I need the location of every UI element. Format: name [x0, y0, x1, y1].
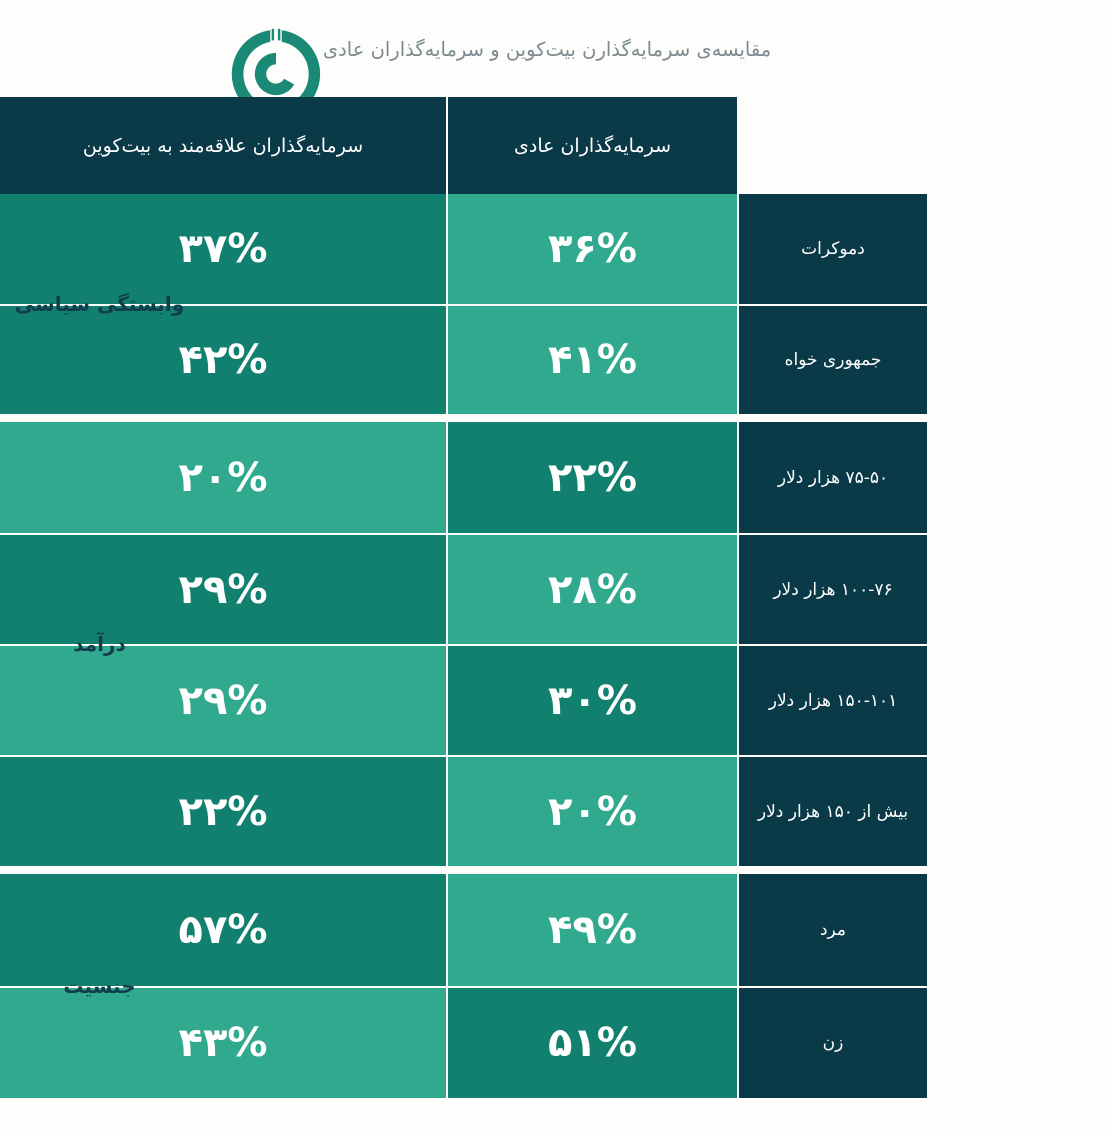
row-spacer: [927, 644, 1112, 755]
value-ordinary: ۴۹%: [446, 874, 737, 986]
row-spacer: [927, 422, 1112, 533]
table-row: جمهوری خواه ۴۱% ۴۲%: [0, 304, 1112, 414]
row-label: ۱۵۰-۱۰۱ هزار دلار: [737, 644, 927, 755]
value-ordinary: ۳۶%: [446, 194, 737, 304]
row-label: مرد: [737, 874, 927, 986]
value-bitcoin: ۲۰%: [0, 422, 446, 533]
row-label: جمهوری خواه: [737, 304, 927, 414]
table-row: زن ۵۱% ۴۳%: [0, 986, 1112, 1098]
value-bitcoin: ۳۷%: [0, 194, 446, 304]
table-row: ۷۵-۵۰ هزار دلار ۲۲% ۲۰%: [0, 422, 1112, 533]
table-header-row: سرمایه‌گذاران عادی سرمایه‌گذاران علاقه‌م…: [0, 97, 1112, 194]
column-header-bitcoin: سرمایه‌گذاران علاقه‌مند به بیت‌کوین: [0, 97, 446, 194]
comparison-table: سرمایه‌گذاران عادی سرمایه‌گذاران علاقه‌م…: [0, 97, 1112, 1098]
row-label: زن: [737, 986, 927, 1098]
value-ordinary: ۲۰%: [446, 755, 737, 866]
section-gender: جنسیت مرد ۴۹% ۵۷% زن ۵۱% ۴۳%: [0, 874, 1112, 1098]
row-spacer: [927, 533, 1112, 644]
value-bitcoin: ۴۳%: [0, 986, 446, 1098]
row-label: دموکرات: [737, 194, 927, 304]
row-label: ۷۵-۵۰ هزار دلار: [737, 422, 927, 533]
value-ordinary: ۲۲%: [446, 422, 737, 533]
section-political-affiliation: وابستگی سیاسی دموکرات ۳۶% ۳۷% جمهوری خوا…: [0, 194, 1112, 414]
table-row: مرد ۴۹% ۵۷%: [0, 874, 1112, 986]
value-ordinary: ۲۸%: [446, 533, 737, 644]
value-ordinary: ۴۱%: [446, 304, 737, 414]
page-title: مقایسه‌ی سرمایه‌گذارن بیت‌کوین و سرمایه‌…: [102, 38, 992, 61]
header-label-blank: [737, 97, 927, 194]
table-row: ۱۰۰-۷۶ هزار دلار ۲۸% ۲۹%: [0, 533, 1112, 644]
row-spacer: [927, 755, 1112, 866]
section-divider: [0, 414, 1112, 422]
column-header-ordinary: سرمایه‌گذاران عادی: [446, 97, 737, 194]
value-bitcoin: ۲۹%: [0, 644, 446, 755]
value-ordinary: ۵۱%: [446, 986, 737, 1098]
section-title-income: درآمد: [12, 632, 187, 656]
value-bitcoin: ۴۲%: [0, 304, 446, 414]
row-label: ۱۰۰-۷۶ هزار دلار: [737, 533, 927, 644]
value-ordinary: ۳۰%: [446, 644, 737, 755]
table-row: بیش از ۱۵۰ هزار دلار ۲۰% ۲۲%: [0, 755, 1112, 866]
table-row: ۱۵۰-۱۰۱ هزار دلار ۳۰% ۲۹%: [0, 644, 1112, 755]
row-spacer: [927, 986, 1112, 1098]
row-spacer: [927, 304, 1112, 414]
header-area: کوینیت Coinit.ir مقایسه‌ی سرمایه‌گذارن ب…: [0, 0, 1112, 97]
section-divider: [0, 866, 1112, 874]
value-bitcoin: ۲۲%: [0, 755, 446, 866]
section-title-political: وابستگی سیاسی: [12, 292, 187, 316]
row-label: بیش از ۱۵۰ هزار دلار: [737, 755, 927, 866]
header-spacer: [927, 97, 1112, 194]
row-spacer: [927, 194, 1112, 304]
table-row: دموکرات ۳۶% ۳۷%: [0, 194, 1112, 304]
section-title-gender: جنسیت: [12, 974, 187, 998]
value-bitcoin: ۵۷%: [0, 874, 446, 986]
row-spacer: [927, 874, 1112, 986]
value-bitcoin: ۲۹%: [0, 533, 446, 644]
section-income: درآمد ۷۵-۵۰ هزار دلار ۲۲% ۲۰% ۱۰۰-۷۶ هزا…: [0, 422, 1112, 866]
